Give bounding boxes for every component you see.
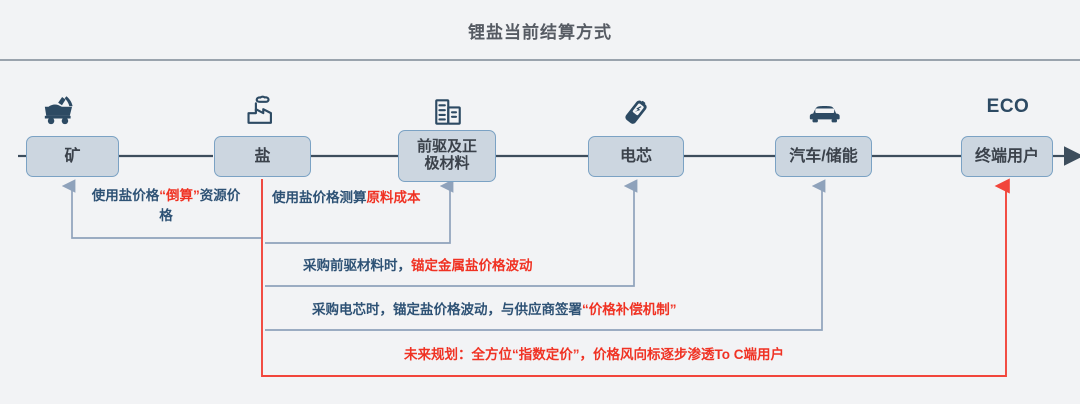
flow-node-label: 终端用户 xyxy=(975,148,1039,166)
battery-cell-icon xyxy=(618,88,654,128)
mining-cart-icon xyxy=(42,88,76,128)
flow-node-cathode[interactable]: 前驱及正极材料 xyxy=(398,130,496,182)
flow-node-label: 矿 xyxy=(64,148,80,166)
flow-node-mine[interactable]: 矿 xyxy=(26,136,119,177)
annotation-future-plan: 未来规划：全方位“指数定价”，价格风向标逐步渗透To C端用户 xyxy=(404,345,784,365)
flow-node-salt[interactable]: 盐 xyxy=(214,136,311,177)
annotation-salt-to-mine: 使用盐价格“倒算”资源价格 xyxy=(86,186,246,225)
flow-node-label: 盐 xyxy=(254,148,270,166)
diagram-canvas: 锂盐当前结算方式 xyxy=(0,0,1080,404)
flow-node-label: 前驱及正极材料 xyxy=(411,139,483,173)
annotation-cathode-purchase: 采购前驱材料时，锚定金属盐价格波动 xyxy=(303,256,533,276)
flow-node-label: 电芯 xyxy=(620,148,652,166)
flow-node-label: 汽车/储能 xyxy=(789,148,857,166)
annotation-salt-to-cathode: 使用盐价格测算原料成本 xyxy=(272,188,440,208)
factory-icon xyxy=(243,88,279,128)
car-icon xyxy=(806,90,844,128)
flow-node-cell[interactable]: 电芯 xyxy=(588,136,684,177)
annotation-cell-purchase: 采购电芯时，锚定盐价格波动，与供应商签署“价格补偿机制” xyxy=(312,300,677,320)
flow-node-end-user[interactable]: 终端用户 xyxy=(961,136,1053,177)
eco-text-icon: ECO xyxy=(962,96,1054,118)
building-icon xyxy=(430,88,466,128)
flow-node-vehicle[interactable]: 汽车/储能 xyxy=(775,136,872,177)
